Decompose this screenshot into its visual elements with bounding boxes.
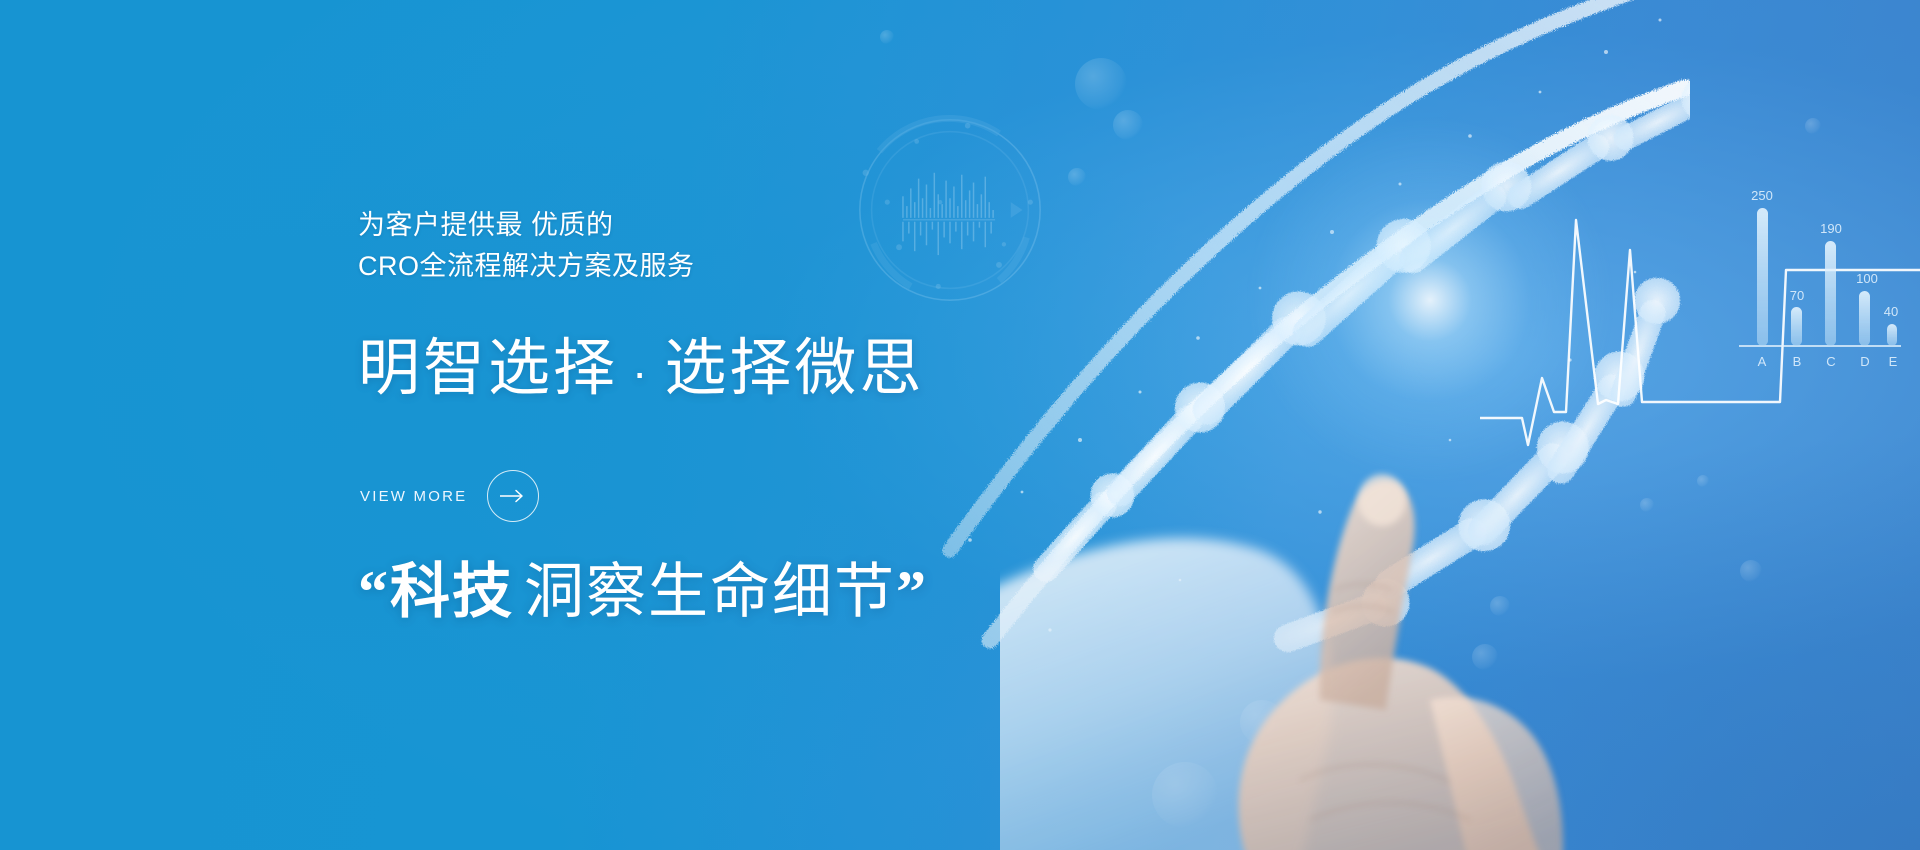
arrow-right-icon <box>500 489 526 503</box>
hero-headline: 明智选择·选择微思 <box>358 336 924 401</box>
hero-content: 为客户提供最 优质的 CRO全流程解决方案及服务 明智选择·选择微思 VIEW … <box>358 0 1178 850</box>
hero-subtitle-line-1: 为客户提供最 优质的 <box>358 205 695 246</box>
quote-close-mark: ” <box>896 559 928 625</box>
quote-light-text: 洞察生命细节 <box>514 558 896 625</box>
quote-open-mark: “ <box>358 559 390 625</box>
chart-value-A: 250 <box>1751 188 1773 203</box>
chart-bar-D <box>1859 291 1870 346</box>
quote-strong-text: 科技 <box>390 558 514 625</box>
chart-bar-B <box>1791 307 1802 346</box>
chart-bar-A <box>1757 208 1768 346</box>
view-more-button[interactable]: VIEW MORE <box>360 470 539 522</box>
chart-value-D: 100 <box>1856 271 1878 286</box>
hero-subtitle-line-2: CRO全流程解决方案及服务 <box>358 246 695 287</box>
hero-headline-separator: · <box>618 346 664 398</box>
hero-banner: 250 70 190 100 40 A B C D E 为客户提供最 优质的 C… <box>0 0 1920 850</box>
chart-category-B: B <box>1793 354 1802 369</box>
chart-category-A: A <box>1758 354 1767 369</box>
chart-value-E: 40 <box>1884 304 1898 319</box>
view-more-circle[interactable] <box>487 470 539 522</box>
view-more-label: VIEW MORE <box>360 488 467 505</box>
chart-category-D: D <box>1860 354 1869 369</box>
chart-value-C: 190 <box>1820 221 1842 236</box>
chart-bar-E <box>1887 324 1897 346</box>
chart-bar-C <box>1825 241 1836 346</box>
chart-value-labels: 250 70 190 100 40 <box>1751 188 1898 319</box>
chart-value-B: 70 <box>1790 288 1804 303</box>
hero-subtitle: 为客户提供最 优质的 CRO全流程解决方案及服务 <box>358 205 695 287</box>
hero-quote: “科技洞察生命细节” <box>358 560 928 625</box>
chart-category-E: E <box>1889 354 1898 369</box>
hero-headline-left: 明智选择 <box>358 334 618 403</box>
chart-category-labels: A B C D E <box>1758 354 1898 369</box>
mini-bar-chart: 250 70 190 100 40 A B C D E <box>1735 186 1905 386</box>
hero-headline-right: 选择微思 <box>664 334 924 403</box>
chart-category-C: C <box>1826 354 1835 369</box>
